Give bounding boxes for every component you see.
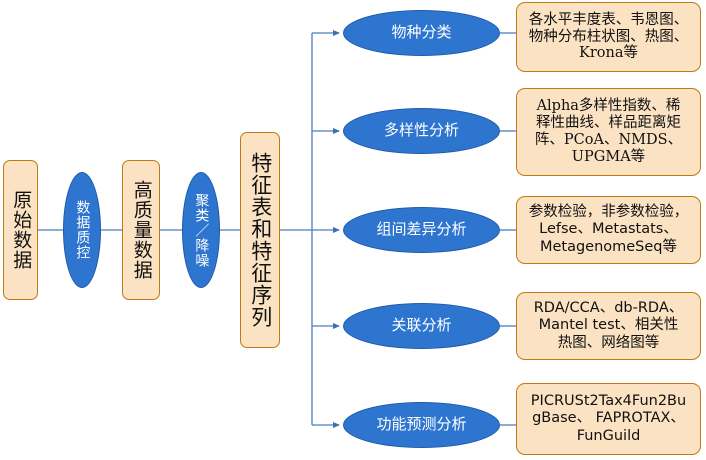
- stage-taxonomy-label: 物种分类: [391, 25, 451, 41]
- output-taxonomy-line-2: 物种分布柱状图、热图、: [524, 29, 693, 46]
- node-data-qc[interactable]: 数据质控: [63, 172, 101, 288]
- node-high-quality-data-label: 高质量数据: [131, 180, 150, 280]
- node-cluster-denoise-label: 聚类／降噪: [194, 193, 209, 268]
- stage-group-difference[interactable]: 组间差异分析: [343, 207, 500, 253]
- output-diversity[interactable]: Alpha多样性指数、稀 释性曲线、样品距离矩 阵、PCoA、NMDS、 UPG…: [516, 88, 701, 176]
- output-diversity-line-3: 阵、PCoA、NMDS、: [524, 132, 693, 149]
- stage-function-prediction[interactable]: 功能预测分析: [343, 402, 500, 448]
- output-group-difference-line-3: MetagenomeSeq等: [524, 239, 693, 256]
- stage-group-difference-label: 组间差异分析: [376, 222, 466, 238]
- output-taxonomy-line-1: 各水平丰度表、韦恩图、: [524, 12, 693, 29]
- output-taxonomy[interactable]: 各水平丰度表、韦恩图、 物种分布柱状图、热图、 Krona等: [516, 2, 701, 72]
- output-function-prediction-line-1: PICRUSt2Tax4Fun2Bu: [524, 393, 693, 410]
- output-correlation-line-3: 热图、网络图等: [524, 335, 693, 352]
- node-raw-data-label: 原始数据: [11, 190, 30, 270]
- output-group-difference[interactable]: 参数检验，非参数检验， Lefse、Metastats、 MetagenomeS…: [516, 196, 701, 264]
- output-correlation-line-1: RDA/CCA、db-RDA、: [524, 300, 693, 317]
- output-correlation-line-2: Mantel test、相关性: [524, 317, 693, 334]
- output-diversity-line-2: 释性曲线、样品距离矩: [524, 115, 693, 132]
- node-raw-data[interactable]: 原始数据: [3, 160, 38, 300]
- stage-correlation[interactable]: 关联分析: [343, 303, 500, 349]
- output-group-difference-line-1: 参数检验，非参数检验，: [524, 204, 693, 221]
- stage-correlation-label: 关联分析: [391, 318, 451, 334]
- output-function-prediction-line-2: gBase、 FAPROTAX、: [524, 410, 693, 427]
- stage-taxonomy[interactable]: 物种分类: [343, 10, 500, 56]
- stage-diversity-label: 多样性分析: [384, 123, 459, 139]
- output-diversity-line-4: UPGMA等: [524, 149, 693, 166]
- stage-function-prediction-label: 功能预测分析: [376, 417, 466, 433]
- output-taxonomy-line-3: Krona等: [524, 45, 693, 62]
- output-group-difference-line-2: Lefse、Metastats、: [524, 221, 693, 238]
- output-function-prediction-line-3: FunGuild: [524, 428, 693, 445]
- node-feature-table[interactable]: 特征表和特征序列: [240, 132, 280, 348]
- node-cluster-denoise[interactable]: 聚类／降噪: [182, 172, 220, 288]
- stage-diversity[interactable]: 多样性分析: [343, 108, 500, 154]
- output-correlation[interactable]: RDA/CCA、db-RDA、 Mantel test、相关性 热图、网络图等: [516, 292, 701, 360]
- output-diversity-line-1: Alpha多样性指数、稀: [524, 98, 693, 115]
- node-feature-table-label: 特征表和特征序列: [249, 152, 270, 328]
- node-high-quality-data[interactable]: 高质量数据: [122, 160, 160, 300]
- output-function-prediction[interactable]: PICRUSt2Tax4Fun2Bu gBase、 FAPROTAX、 FunG…: [516, 383, 701, 455]
- flowchart-canvas: 原始数据 数据质控 高质量数据 聚类／降噪 特征表和特征序列 物种分类 多样性分…: [0, 0, 706, 460]
- node-data-qc-label: 数据质控: [75, 200, 90, 260]
